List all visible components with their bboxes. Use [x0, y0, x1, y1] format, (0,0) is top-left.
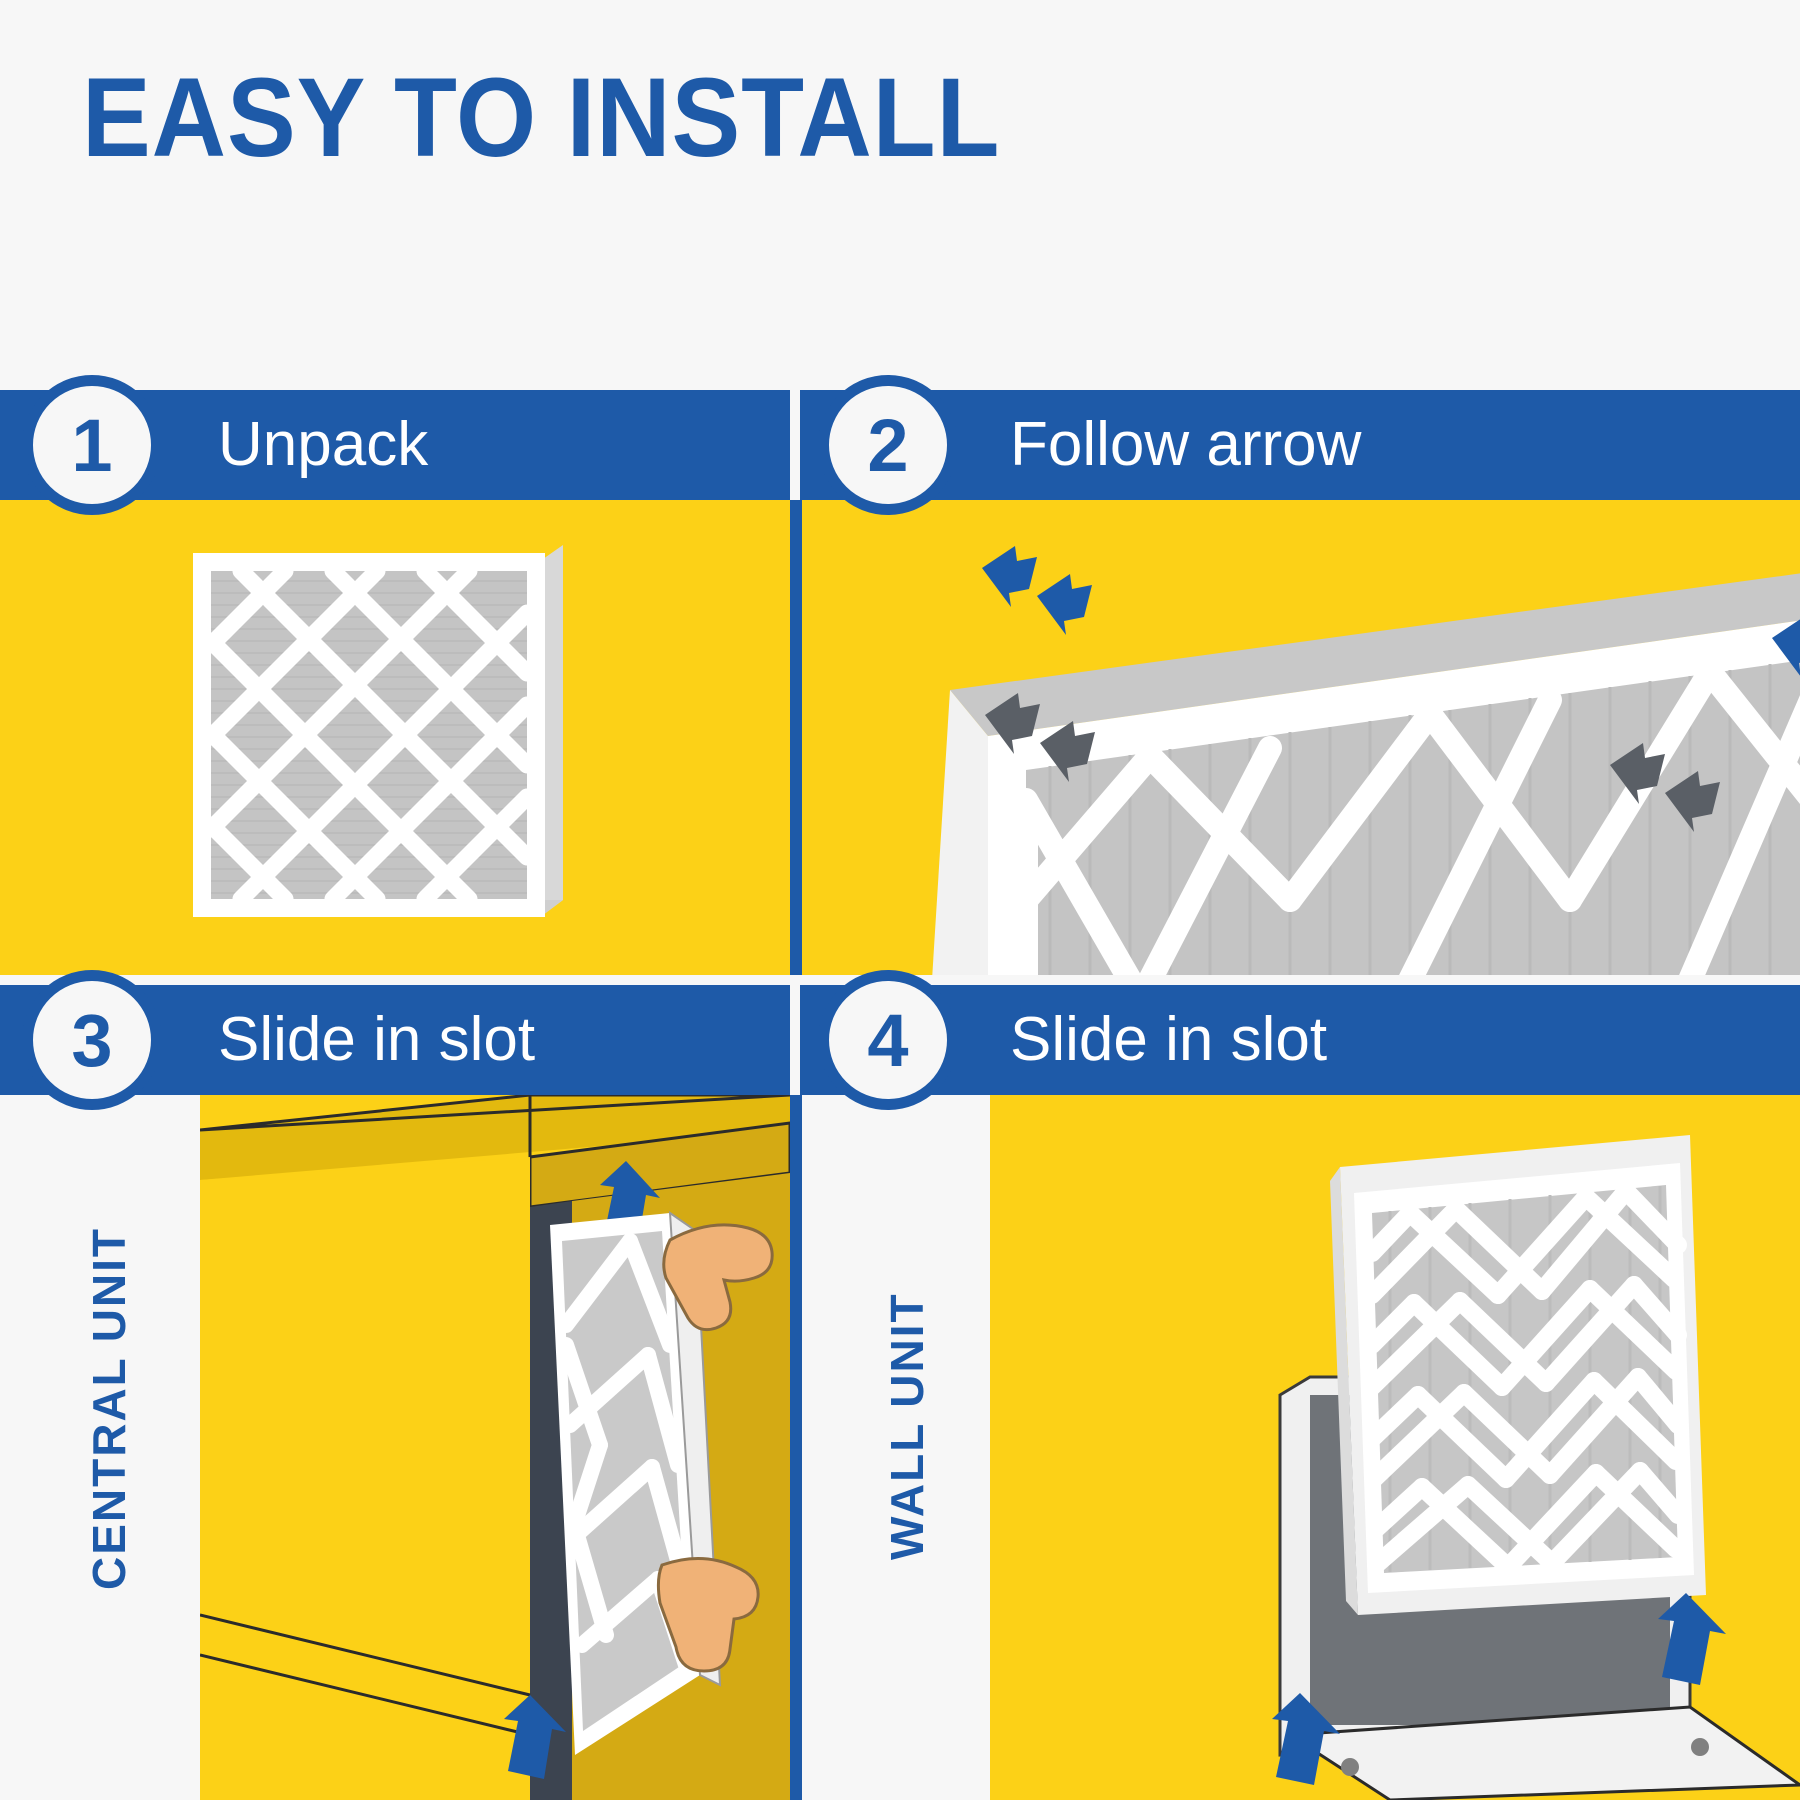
infographic-root: EASY TO INSTALL Unpack — [0, 0, 1800, 1800]
step-3-label: Slide in slot — [218, 1009, 535, 1071]
step-1-number-badge: 1 — [22, 375, 162, 515]
airflow-arrow-blue-icon — [982, 546, 1092, 635]
step-4-unit-label: WALL UNIT — [880, 1292, 934, 1560]
step-2-number-badge: 2 — [818, 375, 958, 515]
step-1-label: Unpack — [218, 414, 428, 476]
step-4-number-badge: 4 — [818, 970, 958, 1110]
step-3-unit-label: CENTRAL UNIT — [82, 1227, 136, 1590]
step-2-panel: Follow arrow — [800, 390, 1800, 975]
wall-vent-icon — [990, 1095, 1800, 1800]
step-3-number-badge: 3 — [22, 970, 162, 1110]
step-2-label: Follow arrow — [1010, 414, 1361, 476]
step-4-label: Slide in slot — [1010, 1009, 1327, 1071]
column-divider-bottom — [790, 1095, 802, 1800]
air-filter-icon — [185, 545, 575, 930]
page-title: EASY TO INSTALL — [82, 62, 1000, 174]
step-4-panel: Slide in slot — [800, 985, 1800, 1800]
air-filter-icon — [850, 500, 1800, 975]
central-unit-icon — [200, 1095, 790, 1800]
column-divider-top — [790, 500, 802, 975]
